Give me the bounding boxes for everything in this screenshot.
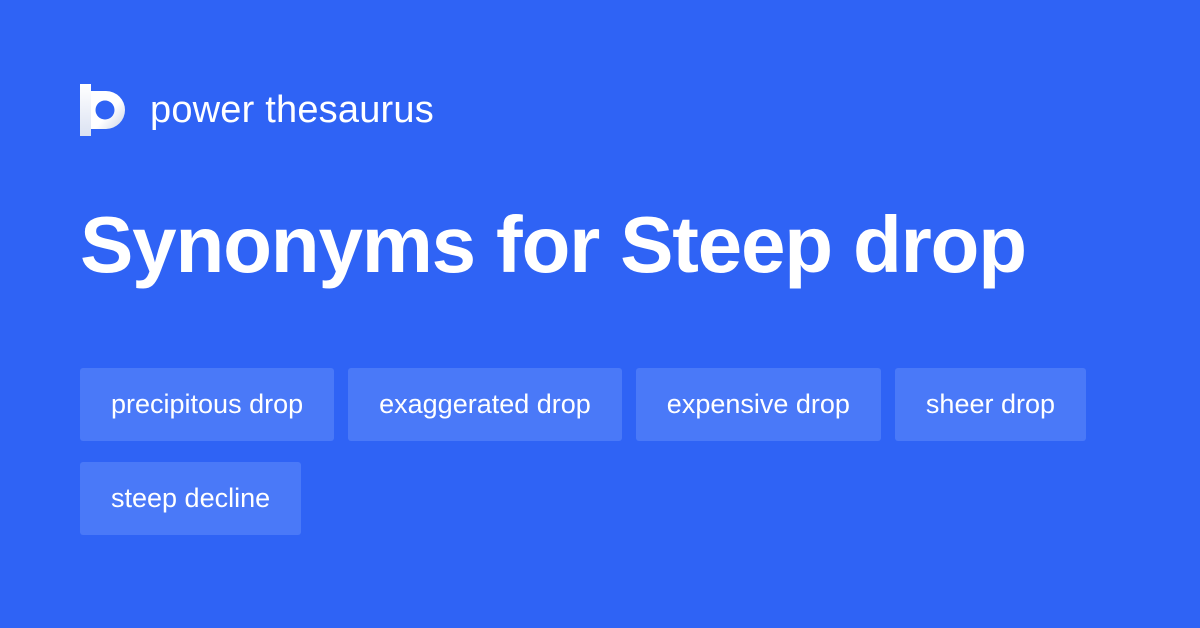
power-thesaurus-b-logo-icon: [80, 84, 128, 136]
page-title: Synonyms for Steep drop: [80, 198, 1026, 292]
synonym-tag[interactable]: precipitous drop: [80, 368, 334, 441]
synonym-tag[interactable]: steep decline: [80, 462, 301, 535]
brand-logo[interactable]: power thesaurus: [80, 84, 434, 136]
synonym-tag-list: precipitous drop exaggerated drop expens…: [80, 368, 1120, 535]
share-card: power thesaurus Synonyms for Steep drop …: [0, 0, 1200, 628]
synonym-tag[interactable]: sheer drop: [895, 368, 1086, 441]
synonym-tag[interactable]: exaggerated drop: [348, 368, 622, 441]
synonym-tag[interactable]: expensive drop: [636, 368, 881, 441]
brand-name: power thesaurus: [150, 91, 434, 129]
